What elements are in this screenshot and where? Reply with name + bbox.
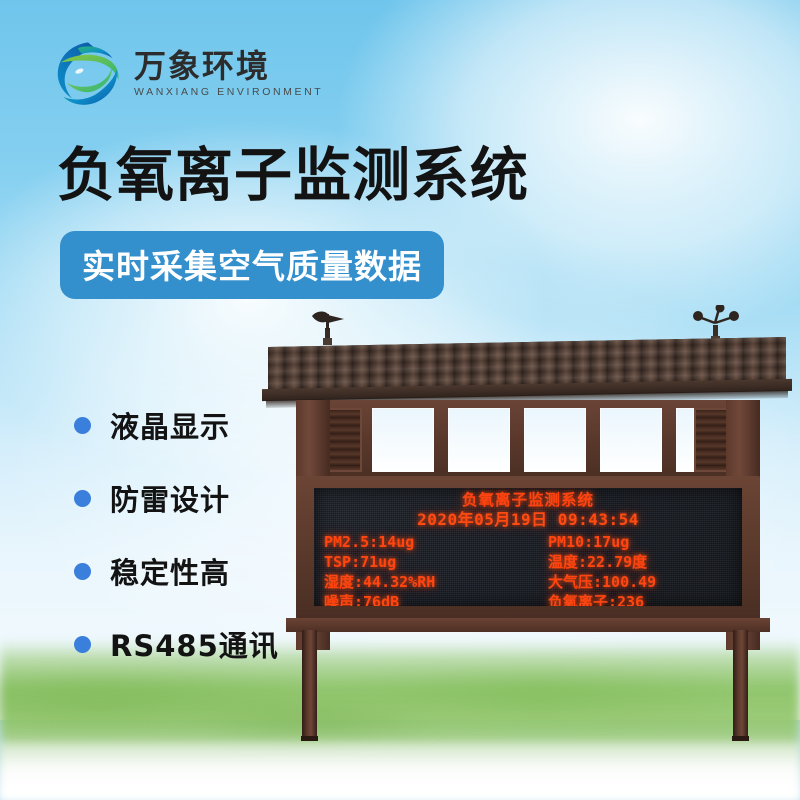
window-opening [448,408,510,472]
window-opening [600,408,662,472]
bottom-rail [286,618,770,632]
window-opening [524,408,586,472]
reading-anion: 负氧离子:236 [532,593,734,606]
reading-pm25: PM2.5:14ug [324,533,526,553]
reading-tsp: TSP:71ug [324,553,526,573]
bullet-dot-icon [74,636,91,653]
feature-label: RS485通讯 [110,623,279,665]
reading-pressure: 大气压:100.49 [532,573,734,593]
window-opening [372,408,434,472]
bullet-dot-icon [74,417,91,434]
led-title: 负氧离子监测系统 [314,491,742,510]
bullet-dot-icon [74,563,91,580]
led-datetime: 2020年05月19日 09:43:54 [314,510,742,531]
led-readings-grid: PM2.5:14ug PM10:17ug TSP:71ug 温度:22.79度 … [314,531,742,606]
leg-foot [732,736,749,741]
wind-vane-icon [308,308,348,346]
reading-humidity: 湿度:44.32%RH [324,573,526,593]
page-title: 负氧离子监测系统 [57,146,529,204]
subtitle-badge: 实时采集空气质量数据 [60,231,444,299]
brand-name-en: WANXIANG ENVIRONMENT [134,86,323,98]
list-item: 防雷设计 [74,477,279,519]
feature-label: 稳定性高 [110,550,230,592]
list-item: 液晶显示 [74,404,279,446]
foreground-path [0,742,800,800]
globe-swirl-logo-icon [52,38,124,110]
window-opening [676,408,694,472]
reading-temp: 温度:22.79度 [532,553,734,573]
feature-label: 防雷设计 [110,477,230,519]
support-leg-right [733,630,748,738]
list-item: RS485通讯 [74,623,279,665]
reading-noise: 噪声:76dB [324,593,526,606]
feature-label: 液晶显示 [110,404,230,446]
support-leg-left [302,630,317,738]
leg-foot [301,736,318,741]
feature-list: 液晶显示 防雷设计 稳定性高 RS485通讯 [74,404,279,665]
promo-poster: 万象环境 WANXIANG ENVIRONMENT 负氧离子监测系统 实时采集空… [0,0,800,800]
led-display-screen: 负氧离子监测系统 2020年05月19日 09:43:54 PM2.5:14ug… [314,488,742,606]
bullet-dot-icon [74,490,91,507]
brand-logo: 万象环境 WANXIANG ENVIRONMENT [52,38,323,110]
list-item: 稳定性高 [74,550,279,592]
reading-pm10: PM10:17ug [532,533,734,553]
upper-frame-band [296,400,760,482]
monitoring-station: 负氧离子监测系统 2020年05月19日 09:43:54 PM2.5:14ug… [268,300,788,750]
brand-name-cn: 万象环境 [134,50,323,84]
